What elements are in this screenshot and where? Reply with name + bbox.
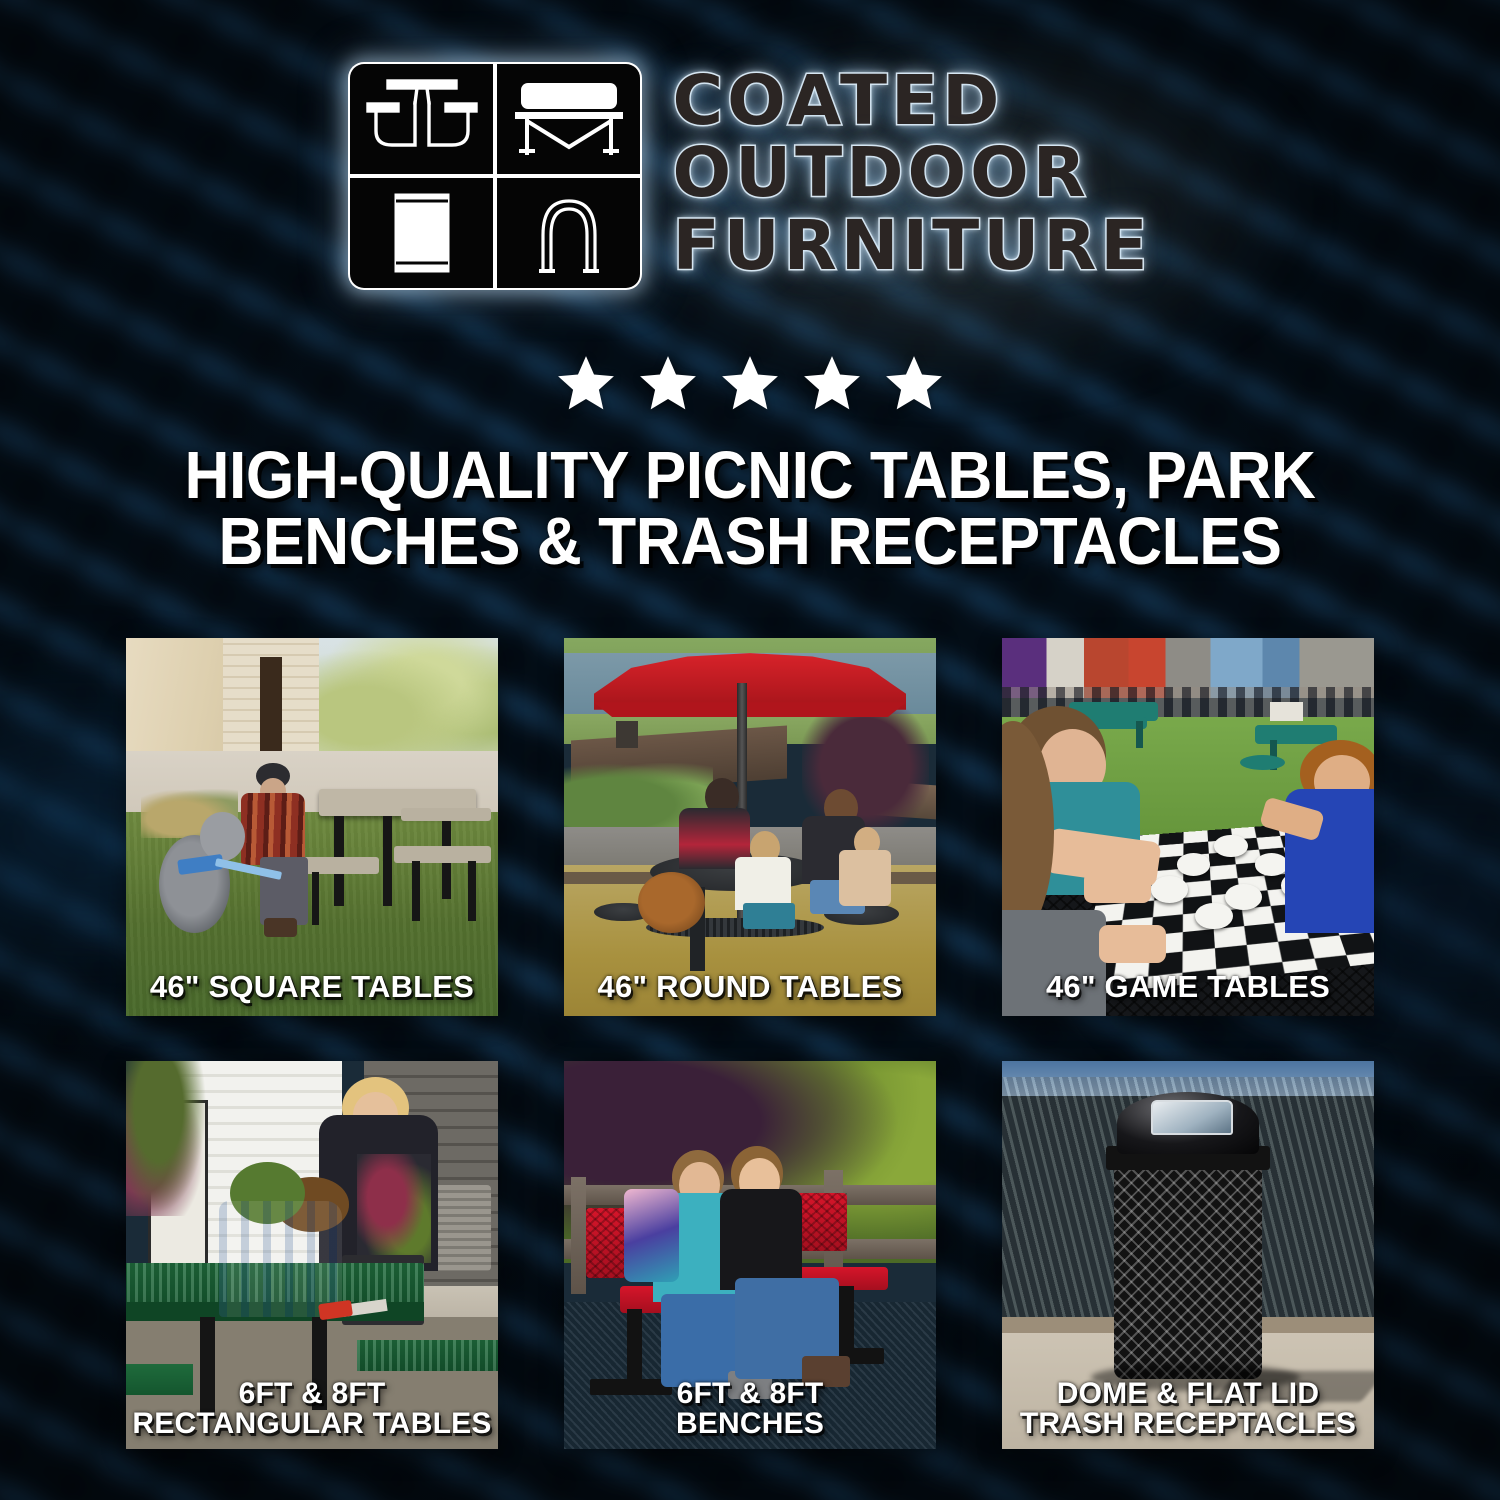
product-caption: 46" SQUARE TABLES [132,971,492,1002]
product-caption-line-1: 6FT & 8FT [570,1379,930,1409]
star-rating [0,352,1500,414]
promo-banner: COATED OUTDOOR FURNITURE HIGH-QUALITY PI… [0,0,1500,1500]
product-grid: 46" SQUARE TABLES [126,638,1374,1449]
product-card-rectangular-tables[interactable]: 6FT & 8FT RECTANGULAR TABLES [126,1061,498,1449]
product-card-trash-receptacles[interactable]: DOME & FLAT LID TRASH RECEPTACLES [1002,1061,1374,1449]
product-caption-line-2: RECTANGULAR TABLES [132,1409,492,1439]
trash-receptacle-icon [350,178,493,288]
product-caption: 46" GAME TABLES [1008,971,1368,1002]
headline-line-1: HIGH-QUALITY PICNIC TABLES, PARK [108,443,1391,509]
product-caption: 6FT & 8FT BENCHES [570,1379,930,1439]
product-caption-line-2: TRASH RECEPTACLES [1008,1409,1368,1439]
star-icon [882,352,946,414]
product-caption: 6FT & 8FT RECTANGULAR TABLES [132,1379,492,1439]
product-card-game-tables[interactable]: 46" GAME TABLES [1002,638,1374,1016]
product-caption-line-1: DOME & FLAT LID [1008,1379,1368,1409]
star-icon [800,352,864,414]
bike-rack-arch-icon [497,178,640,288]
product-photo-game-tables [1002,638,1374,1016]
headline-line-2: BENCHES & TRASH RECEPTACLES [108,509,1391,575]
product-card-round-tables[interactable]: 46" ROUND TABLES [564,638,936,1016]
product-card-benches[interactable]: 6FT & 8FT BENCHES [564,1061,936,1449]
star-icon [554,352,618,414]
product-caption: DOME & FLAT LID TRASH RECEPTACLES [1008,1379,1368,1439]
logo-mark-grid [348,62,642,290]
product-card-square-tables[interactable]: 46" SQUARE TABLES [126,638,498,1016]
brand-logo: COATED OUTDOOR FURNITURE [0,62,1500,290]
product-photo-round-tables [564,638,936,1016]
star-icon [718,352,782,414]
product-photo-square-tables [126,638,498,1016]
product-caption: 46" ROUND TABLES [570,971,930,1002]
logo-word-coated: COATED [672,66,1151,136]
logo-word-outdoor: OUTDOOR [672,138,1151,208]
product-caption-line-2: BENCHES [570,1409,930,1439]
logo-word-furniture: FURNITURE [672,211,1151,281]
logo-wordmark: COATED OUTDOOR FURNITURE [672,62,1151,281]
picnic-table-front-icon [350,64,493,174]
product-caption-line-1: 46" SQUARE TABLES [132,971,492,1002]
bench-side-icon [497,64,640,174]
product-caption-line-1: 46" GAME TABLES [1008,971,1368,1002]
product-caption-line-1: 6FT & 8FT [132,1379,492,1409]
product-caption-line-1: 46" ROUND TABLES [570,971,930,1002]
star-icon [636,352,700,414]
page-title: HIGH-QUALITY PICNIC TABLES, PARK BENCHES… [108,443,1391,576]
